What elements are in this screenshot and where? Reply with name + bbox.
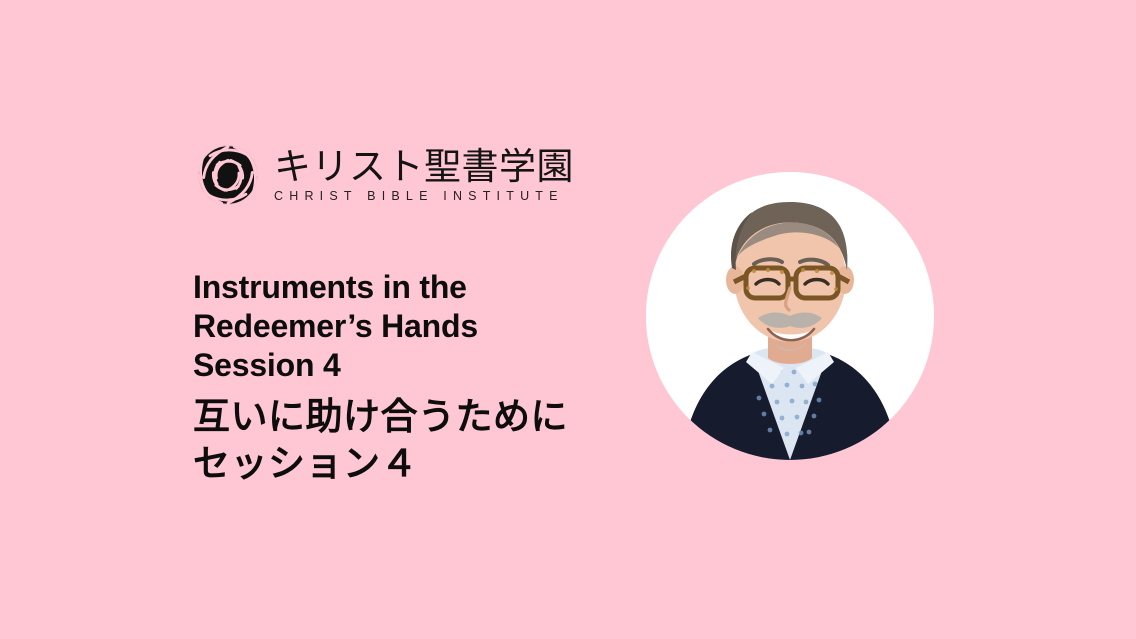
speaker-portrait [646, 172, 934, 460]
session-title-english: Instruments in the Redeemer’s Hands Sess… [193, 268, 663, 385]
rosette-knot-logo-icon [196, 143, 260, 207]
slide-canvas: キリスト聖書学園 CHRIST BIBLE INSTITUTE Instrume… [0, 0, 1136, 639]
brand-wordmark: キリスト聖書学園 CHRIST BIBLE INSTITUTE [274, 147, 574, 203]
brand-name-english: CHRIST BIBLE INSTITUTE [274, 190, 574, 203]
brand-name-japanese: キリスト聖書学園 [274, 147, 574, 186]
brand-lockup: キリスト聖書学園 CHRIST BIBLE INSTITUTE [196, 143, 574, 207]
session-title-japanese: 互いに助け合うために セッション４ [193, 393, 663, 487]
title-block: Instruments in the Redeemer’s Hands Sess… [193, 268, 663, 487]
